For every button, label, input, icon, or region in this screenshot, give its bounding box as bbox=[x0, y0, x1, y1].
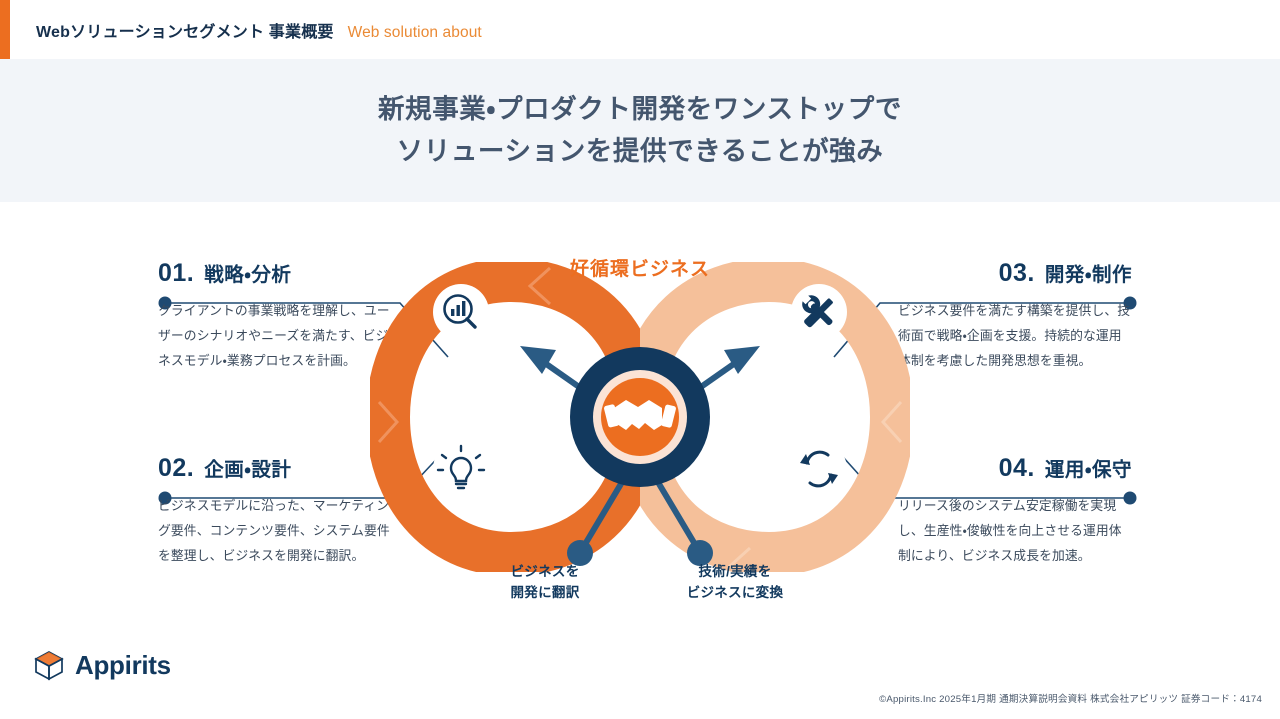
header-title-en: Web solution about bbox=[348, 24, 482, 42]
infinity-graphic bbox=[370, 262, 910, 572]
step-03-number: 03. bbox=[999, 259, 1035, 288]
headline-banner: 新規事業・プロダクト開発をワンストップで ソリューションを提供できることが強み bbox=[0, 59, 1280, 202]
step-02-number: 02. bbox=[158, 454, 194, 483]
copyright-text: ©Appirits.Inc 2025年1月期 通期決算説明会資料 株式会社アピリ… bbox=[879, 691, 1262, 705]
step-04-title: 運用・保守 bbox=[1045, 453, 1132, 482]
step-block-04: 04. 運用・保守 リリース後のシステム安定稼働を実現し、生産性・俊敏性を向上さ… bbox=[898, 453, 1132, 569]
header-title-jp: Webソリューションセグメント 事業概要 bbox=[36, 18, 334, 42]
arrow-label-left-line2: 開発に翻訳 bbox=[485, 583, 605, 604]
header-accent-bar bbox=[0, 0, 10, 59]
core-medallion bbox=[570, 347, 710, 487]
step-02-body: ビジネスモデルに沿った、マーケティング要件、コンテンツ要件、システム要件を整理し… bbox=[158, 494, 392, 569]
diagram-stage: 01. 戦略・分析 クライアントの事業戦略を理解し、ユーザーのシナリオやニーズを… bbox=[0, 202, 1280, 642]
node-bottom-left[interactable] bbox=[433, 441, 489, 497]
arrow-label-right-line2: ビジネスに変換 bbox=[675, 583, 795, 604]
step-01-heading: 01. 戦略・分析 bbox=[158, 258, 392, 288]
page-header: Webソリューションセグメント 事業概要 Web solution about bbox=[0, 0, 1280, 59]
loop-title: 好循環ビジネス bbox=[370, 254, 910, 281]
node-top-left[interactable] bbox=[433, 284, 489, 340]
step-block-01: 01. 戦略・分析 クライアントの事業戦略を理解し、ユーザーのシナリオやニーズを… bbox=[158, 258, 392, 374]
step-03-title: 開発・制作 bbox=[1045, 258, 1132, 287]
page-footer: Appirits ©Appirits.Inc 2025年1月期 通期決算説明会資… bbox=[0, 642, 1280, 719]
headline-line-1: 新規事業・プロダクト開発をワンストップで bbox=[378, 89, 902, 130]
step-04-body: リリース後のシステム安定稼働を実現し、生産性・俊敏性を向上させる運用体制により、… bbox=[898, 494, 1132, 569]
step-02-heading: 02. 企画・設計 bbox=[158, 453, 392, 483]
step-01-number: 01. bbox=[158, 259, 194, 288]
arrow-label-left-line1: ビジネスを bbox=[485, 562, 605, 583]
headline-line-2: ソリューションを提供できることが強み bbox=[397, 131, 884, 172]
step-02-title: 企画・設計 bbox=[204, 453, 291, 482]
step-03-heading: 03. 開発・制作 bbox=[898, 258, 1132, 288]
arrow-label-left: ビジネスを 開発に翻訳 bbox=[485, 562, 605, 622]
node-top-right[interactable] bbox=[791, 284, 847, 340]
arrow-label-right: 技術/実績を ビジネスに変換 bbox=[675, 562, 795, 622]
node-bottom-right[interactable] bbox=[791, 441, 847, 497]
cube-logo-icon bbox=[32, 648, 66, 682]
arrow-label-right-line1: 技術/実績を bbox=[675, 562, 795, 583]
step-01-body: クライアントの事業戦略を理解し、ユーザーのシナリオやニーズを満たす、ビジネスモデ… bbox=[158, 299, 392, 374]
step-block-02: 02. 企画・設計 ビジネスモデルに沿った、マーケティング要件、コンテンツ要件、… bbox=[158, 453, 392, 569]
step-01-title: 戦略・分析 bbox=[204, 258, 291, 287]
header-title-group: Webソリューションセグメント 事業概要 Web solution about bbox=[36, 18, 482, 42]
brand-logo: Appirits bbox=[32, 648, 171, 682]
step-04-heading: 04. 運用・保守 bbox=[898, 453, 1132, 483]
step-03-body: ビジネス要件を満たす構築を提供し、技術面で戦略・企画を支援。持続的な運用体制を考… bbox=[898, 299, 1132, 374]
step-04-number: 04. bbox=[999, 454, 1035, 483]
arrow-label-group: ビジネスを 開発に翻訳 技術/実績を ビジネスに変換 bbox=[370, 562, 910, 622]
step-block-03: 03. 開発・制作 ビジネス要件を満たす構築を提供し、技術面で戦略・企画を支援。… bbox=[898, 258, 1132, 374]
brand-logo-text: Appirits bbox=[75, 650, 171, 681]
infinity-loop-diagram: 好循環ビジネス bbox=[370, 262, 910, 572]
